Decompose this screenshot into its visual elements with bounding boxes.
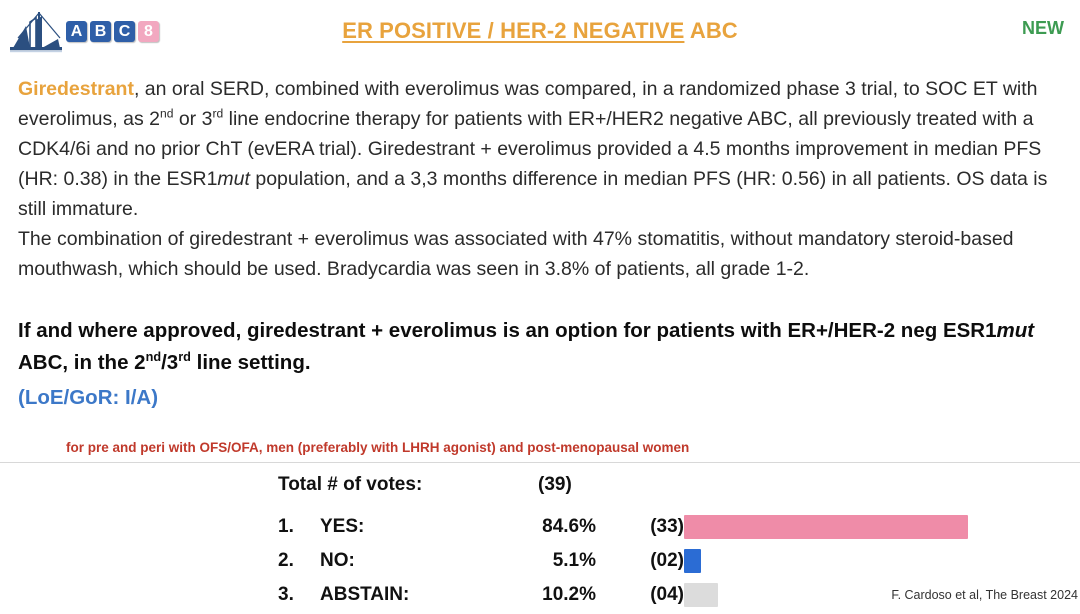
vote-row-no: 2. NO: 5.1% (02): [278, 546, 1078, 576]
vote-row-yes: 1. YES: 84.6% (33): [278, 512, 1078, 542]
recommendation-part-2: ABC, in the 2: [18, 351, 146, 374]
vote-bar-cell-yes: [684, 514, 1078, 540]
vote-rank-2: 2.: [278, 550, 320, 572]
vote-rank-1: 1.: [278, 516, 320, 538]
recommendation-superscript-nd: nd: [146, 349, 162, 364]
vote-bar-abstain: [684, 583, 718, 607]
drug-name: Giredestrant: [18, 78, 134, 100]
citation-text: F. Cardoso et al, The Breast 2024: [891, 588, 1078, 602]
summary-paragraph-1: Giredestrant, an oral SERD, combined wit…: [18, 74, 1066, 224]
vote-percent-yes: 84.6%: [496, 516, 596, 538]
esr1-mut-italic: mut: [217, 168, 250, 190]
vote-count-yes: (33): [596, 516, 684, 538]
footnote-text: for pre and peri with OFS/OFA, men (pref…: [66, 440, 689, 455]
vote-label-yes: YES:: [320, 516, 496, 538]
superscript-rd: rd: [212, 107, 223, 121]
vote-rank-3: 3.: [278, 584, 320, 606]
slide-header: A B C 8 ER POSITIVE / HER-2 NEGATIVE ABC…: [0, 0, 1080, 62]
superscript-nd: nd: [160, 107, 173, 121]
vote-total-count: (39): [538, 474, 614, 496]
recommendation-line: If and where approved, giredestrant + ev…: [18, 315, 1068, 379]
paragraph1-part-b: or 3: [173, 108, 212, 130]
vote-count-no: (02): [596, 550, 684, 572]
vote-bar-cell-no: [684, 548, 1078, 574]
vote-bar-no: [684, 549, 701, 573]
vote-percent-abstain: 10.2%: [496, 584, 596, 606]
recommendation-superscript-rd: rd: [178, 349, 191, 364]
vote-label-no: NO:: [320, 550, 496, 572]
vote-total-row: Total # of votes: (39): [278, 470, 1078, 500]
summary-paragraph-2: The combination of giredestrant + everol…: [18, 224, 1066, 284]
vote-label-abstain: ABSTAIN:: [320, 584, 496, 606]
vote-percent-no: 5.1%: [496, 550, 596, 572]
page-title: ER POSITIVE / HER-2 NEGATIVE ABC: [0, 18, 1080, 44]
recommendation-mut-italic: mut: [997, 319, 1035, 342]
section-divider: [0, 462, 1080, 463]
page-title-underlined: ER POSITIVE / HER-2 NEGATIVE: [342, 18, 684, 43]
new-badge: NEW: [1022, 18, 1064, 39]
page-title-tail: ABC: [684, 18, 737, 43]
vote-bar-yes: [684, 515, 968, 539]
recommendation-part-4: line setting.: [191, 351, 311, 374]
vote-count-abstain: (04): [596, 584, 684, 606]
summary-text: Giredestrant, an oral SERD, combined wit…: [18, 74, 1066, 284]
recommendation-part-1: If and where approved, giredestrant + ev…: [18, 319, 997, 342]
recommendation-statement: If and where approved, giredestrant + ev…: [18, 315, 1068, 379]
vote-total-label: Total # of votes:: [278, 474, 538, 496]
recommendation-part-3: /3: [161, 351, 178, 374]
loe-gor-label: (LoE/GoR: I/A): [18, 386, 158, 410]
